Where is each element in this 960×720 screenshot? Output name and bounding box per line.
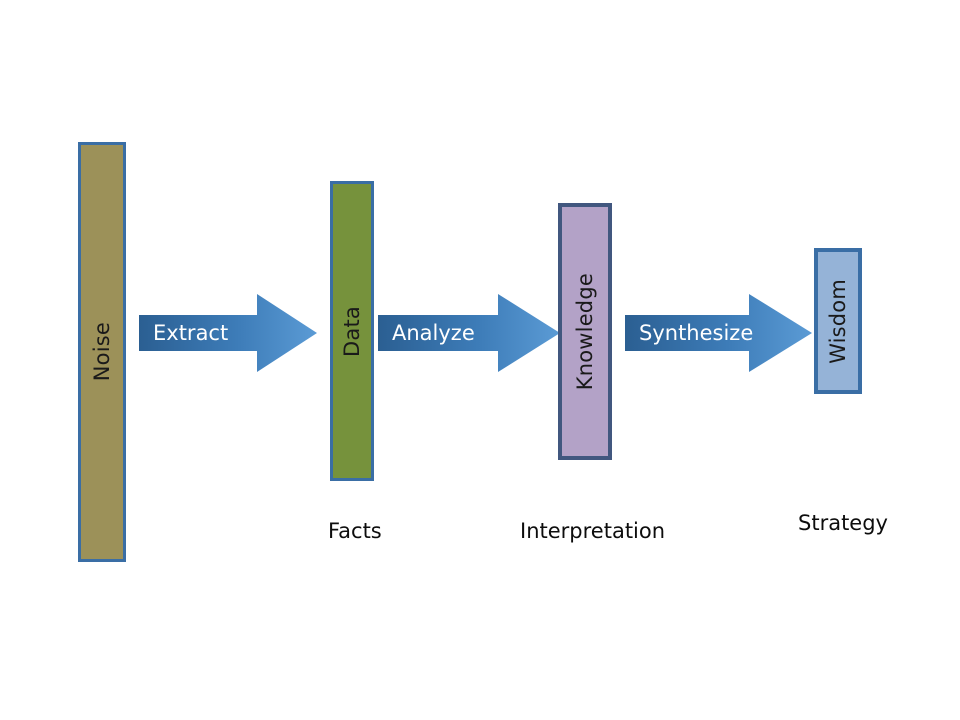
arrow-extract[interactable]: Extract <box>139 294 317 372</box>
caption-strategy: Strategy <box>798 511 888 535</box>
stage-label-noise: Noise <box>90 322 114 381</box>
arrow-synthesize-shape <box>625 294 812 372</box>
arrow-analyze-shape <box>378 294 560 372</box>
caption-facts: Facts <box>328 519 382 543</box>
stage-bar-noise[interactable]: Noise <box>78 142 126 562</box>
arrow-extract-shape <box>139 294 317 372</box>
stage-label-wisdom: Wisdom <box>826 279 850 364</box>
stage-label-data: Data <box>340 306 364 357</box>
stage-bar-wisdom[interactable]: Wisdom <box>814 248 862 394</box>
stage-bar-knowledge[interactable]: Knowledge <box>558 203 612 460</box>
diagram-canvas: Noise Extract Data <box>0 0 960 720</box>
stage-bar-data[interactable]: Data <box>330 181 374 481</box>
caption-interpretation: Interpretation <box>520 519 665 543</box>
stage-label-knowledge: Knowledge <box>573 273 597 390</box>
arrow-synthesize[interactable]: Synthesize <box>625 294 812 372</box>
arrow-analyze[interactable]: Analyze <box>378 294 560 372</box>
